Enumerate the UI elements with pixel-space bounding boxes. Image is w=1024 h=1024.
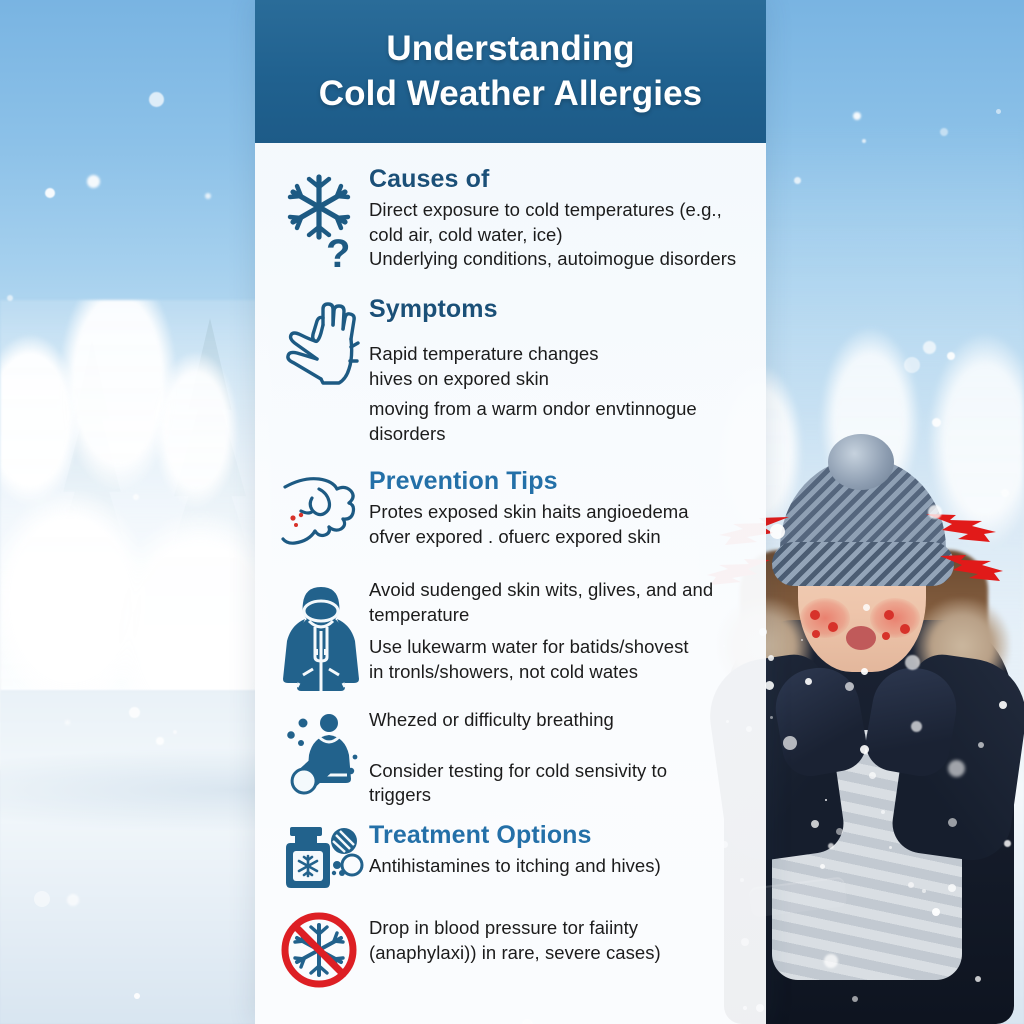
infographic-poster: Understanding Cold Weather Allergies bbox=[0, 0, 1024, 1024]
body-line: Drop in blood pressure tor faiinty bbox=[369, 917, 748, 940]
clothing-text: Avoid sudenged skin wits, glives, and an… bbox=[369, 579, 752, 683]
card-body: ? Causes of Direct exposure to cold temp… bbox=[255, 143, 766, 1024]
body-line: moving from a warm ondor envtinnogue bbox=[369, 398, 748, 421]
section-symptoms: Symptoms Rapid temperature changes hives… bbox=[273, 295, 752, 445]
red-cheek-rash bbox=[800, 598, 850, 638]
snowflake bbox=[783, 736, 797, 750]
page-title: Understanding Cold Weather Allergies bbox=[319, 27, 702, 117]
hive-spot bbox=[828, 622, 838, 632]
hat-pompom bbox=[828, 434, 894, 490]
symptoms-text: Symptoms Rapid temperature changes hives… bbox=[369, 295, 752, 445]
snowflake bbox=[173, 730, 177, 734]
title-line-2: Cold Weather Allergies bbox=[319, 74, 702, 113]
snowflake bbox=[87, 175, 100, 188]
body-line: Direct exposure to cold temperatures (e.… bbox=[369, 199, 748, 222]
content-card: Understanding Cold Weather Allergies bbox=[255, 0, 766, 1024]
snowflake bbox=[133, 494, 139, 500]
prevention-text: Prevention Tips Protes exposed skin hait… bbox=[369, 467, 752, 548]
spacer bbox=[273, 891, 752, 905]
snowflake bbox=[940, 128, 948, 136]
body-line: hives on expored skin bbox=[369, 368, 748, 391]
snowflake bbox=[948, 760, 965, 777]
treatment-text: Treatment Options Antihistamines to itch… bbox=[369, 821, 752, 878]
snowflake bbox=[996, 109, 1001, 114]
hive-spot bbox=[882, 632, 890, 640]
severe-text: Drop in blood pressure tor faiinty (anap… bbox=[369, 905, 752, 964]
svg-text:?: ? bbox=[326, 232, 350, 273]
body-line: Protes exposed skin haits angioedema bbox=[369, 501, 748, 524]
body-line: Antihistamines to itching and hives) bbox=[369, 855, 748, 878]
title-line-1: Understanding bbox=[386, 29, 634, 68]
hand-outline-icon bbox=[273, 295, 369, 391]
snowflake bbox=[824, 954, 838, 968]
snowflake bbox=[1004, 840, 1011, 847]
body-line: temperature bbox=[369, 604, 748, 627]
body-line: Underlying conditions, autoimogue disord… bbox=[369, 248, 748, 271]
section-causes: ? Causes of Direct exposure to cold temp… bbox=[273, 165, 752, 273]
snowflake bbox=[932, 418, 941, 427]
no-cold-icon bbox=[273, 905, 369, 991]
spacer bbox=[369, 329, 748, 343]
body-line: cold air, cold water, ice) bbox=[369, 224, 748, 247]
snowflake bbox=[1001, 489, 1009, 497]
body-line: Use lukewarm water for batids/shovest bbox=[369, 636, 748, 659]
section-heading-treatment: Treatment Options bbox=[369, 821, 748, 850]
card-header: Understanding Cold Weather Allergies bbox=[255, 0, 766, 143]
snowflake bbox=[45, 188, 55, 198]
body-line: (anaphylaxi)) in rare, severe cases) bbox=[369, 942, 748, 965]
body-line: Rapid temperature changes bbox=[369, 343, 748, 366]
section-prevention: Prevention Tips Protes exposed skin hait… bbox=[273, 467, 752, 549]
section-severe: Drop in blood pressure tor faiinty (anap… bbox=[273, 905, 752, 991]
body-line: ofver expored . ofuerc expored skin bbox=[369, 526, 748, 549]
snowflake bbox=[80, 657, 87, 664]
section-heading-prevention: Prevention Tips bbox=[369, 467, 748, 496]
snowflake bbox=[770, 524, 785, 539]
body-line: Avoid sudenged skin wits, glives, and an… bbox=[369, 579, 748, 602]
snowflake bbox=[522, 1019, 533, 1024]
snowflake bbox=[134, 993, 140, 999]
snowflake bbox=[904, 357, 920, 373]
hive-spot bbox=[812, 630, 820, 638]
hive-spot bbox=[900, 624, 910, 634]
snowflake bbox=[34, 891, 50, 907]
spacer bbox=[273, 549, 752, 579]
spacer bbox=[273, 273, 752, 295]
snowflake bbox=[794, 177, 801, 184]
snowflake bbox=[67, 894, 79, 906]
body-line: disorders bbox=[369, 423, 748, 446]
snowflake bbox=[129, 707, 140, 718]
snowflake bbox=[853, 112, 861, 120]
spacer bbox=[273, 695, 752, 709]
hive-spot bbox=[884, 610, 894, 620]
body-line: triggers bbox=[369, 784, 748, 807]
snowflake bbox=[923, 341, 936, 354]
snowflake bbox=[928, 505, 942, 519]
snowflake bbox=[7, 295, 13, 301]
hand-rash-icon bbox=[273, 467, 369, 549]
pill-person-icon bbox=[273, 709, 369, 805]
section-heading-symptoms: Symptoms bbox=[369, 295, 748, 324]
body-line: Consider testing for cold sensivity to bbox=[369, 760, 748, 783]
section-breathing: Whezed or difficulty breathing Consider … bbox=[273, 709, 752, 807]
snowflake bbox=[905, 655, 920, 670]
snowflake bbox=[65, 720, 70, 725]
snowflake bbox=[947, 352, 955, 360]
snowflake bbox=[182, 646, 187, 651]
section-treatment: Treatment Options Antihistamines to itch… bbox=[273, 821, 752, 891]
snowflake bbox=[156, 737, 164, 745]
knit-hat-brim bbox=[772, 542, 954, 586]
red-cheek-rash bbox=[870, 598, 920, 638]
medicine-bottle-icon bbox=[273, 821, 369, 891]
body-line: in tronls/showers, not cold wates bbox=[369, 661, 748, 684]
spacer bbox=[273, 445, 752, 467]
snowflake-question-icon: ? bbox=[273, 165, 369, 273]
section-clothing: Avoid sudenged skin wits, glives, and an… bbox=[273, 579, 752, 695]
winter-jacket-icon bbox=[273, 579, 369, 695]
snowflake bbox=[828, 843, 834, 849]
body-line: Whezed or difficulty breathing bbox=[369, 709, 748, 732]
pain-bolt-icon bbox=[938, 552, 1004, 584]
causes-text: Causes of Direct exposure to cold temper… bbox=[369, 165, 752, 271]
mouth bbox=[846, 626, 876, 650]
spacer bbox=[273, 807, 752, 821]
hive-spot bbox=[810, 610, 820, 620]
section-heading-causes: Causes of bbox=[369, 165, 748, 194]
snowflake bbox=[862, 139, 866, 143]
snowflake bbox=[911, 721, 922, 732]
breathing-text: Whezed or difficulty breathing Consider … bbox=[369, 709, 752, 807]
snowflake bbox=[863, 604, 870, 611]
snowflake bbox=[149, 92, 164, 107]
snowflake bbox=[205, 193, 211, 199]
